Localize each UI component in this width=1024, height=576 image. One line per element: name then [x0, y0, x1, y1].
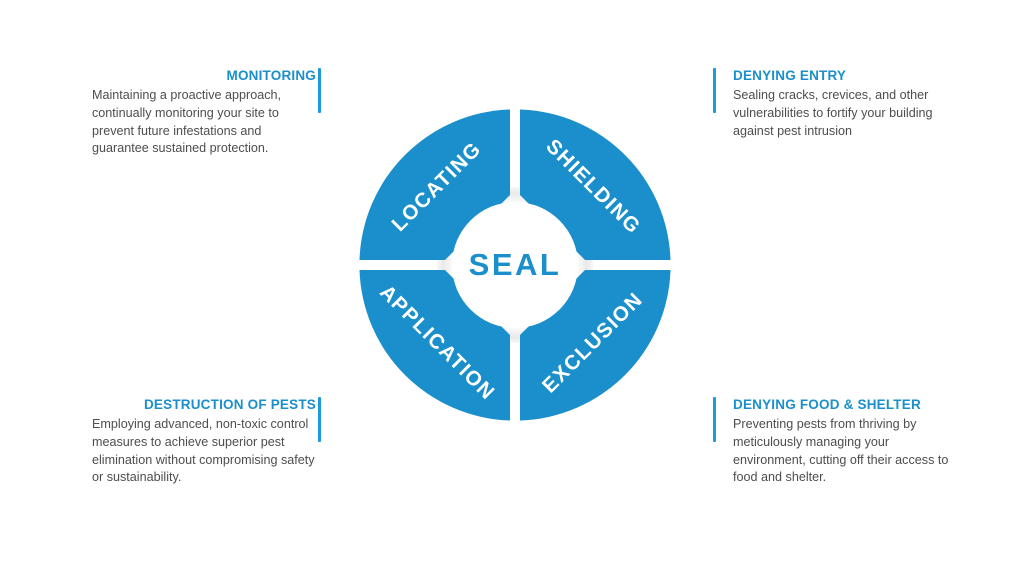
- callout-denying-food-shelter: DENYING FOOD & SHELTER Preventing pests …: [733, 397, 957, 487]
- callout-denying-food-shelter-heading: DENYING FOOD & SHELTER: [733, 397, 957, 413]
- callout-monitoring-body: Maintaining a proactive approach, contin…: [92, 87, 316, 158]
- callout-monitoring-heading: MONITORING: [92, 68, 316, 84]
- accent-bar-denying-food-shelter: [713, 397, 716, 442]
- callout-denying-food-shelter-body: Preventing pests from thriving by meticu…: [733, 416, 957, 487]
- inner-circle: [452, 202, 578, 328]
- seal-donut-diagram: LOCATING SHIELDING APPLICATION EXCLUSION…: [355, 105, 675, 425]
- accent-bar-denying-entry: [713, 68, 716, 113]
- callout-monitoring: MONITORING Maintaining a proactive appro…: [92, 68, 316, 158]
- callout-destruction-heading: DESTRUCTION OF PESTS: [92, 397, 316, 413]
- accent-bar-monitoring: [318, 68, 321, 113]
- callout-denying-entry: DENYING ENTRY Sealing cracks, crevices, …: [733, 68, 957, 140]
- callout-destruction-body: Employing advanced, non-toxic control me…: [92, 416, 316, 487]
- callout-destruction-of-pests: DESTRUCTION OF PESTS Employing advanced,…: [92, 397, 316, 487]
- diagram-canvas: MONITORING Maintaining a proactive appro…: [0, 0, 1024, 576]
- donut-svg: [355, 105, 675, 425]
- callout-denying-entry-body: Sealing cracks, crevices, and other vuln…: [733, 87, 957, 140]
- callout-denying-entry-heading: DENYING ENTRY: [733, 68, 957, 84]
- accent-bar-destruction: [318, 397, 321, 442]
